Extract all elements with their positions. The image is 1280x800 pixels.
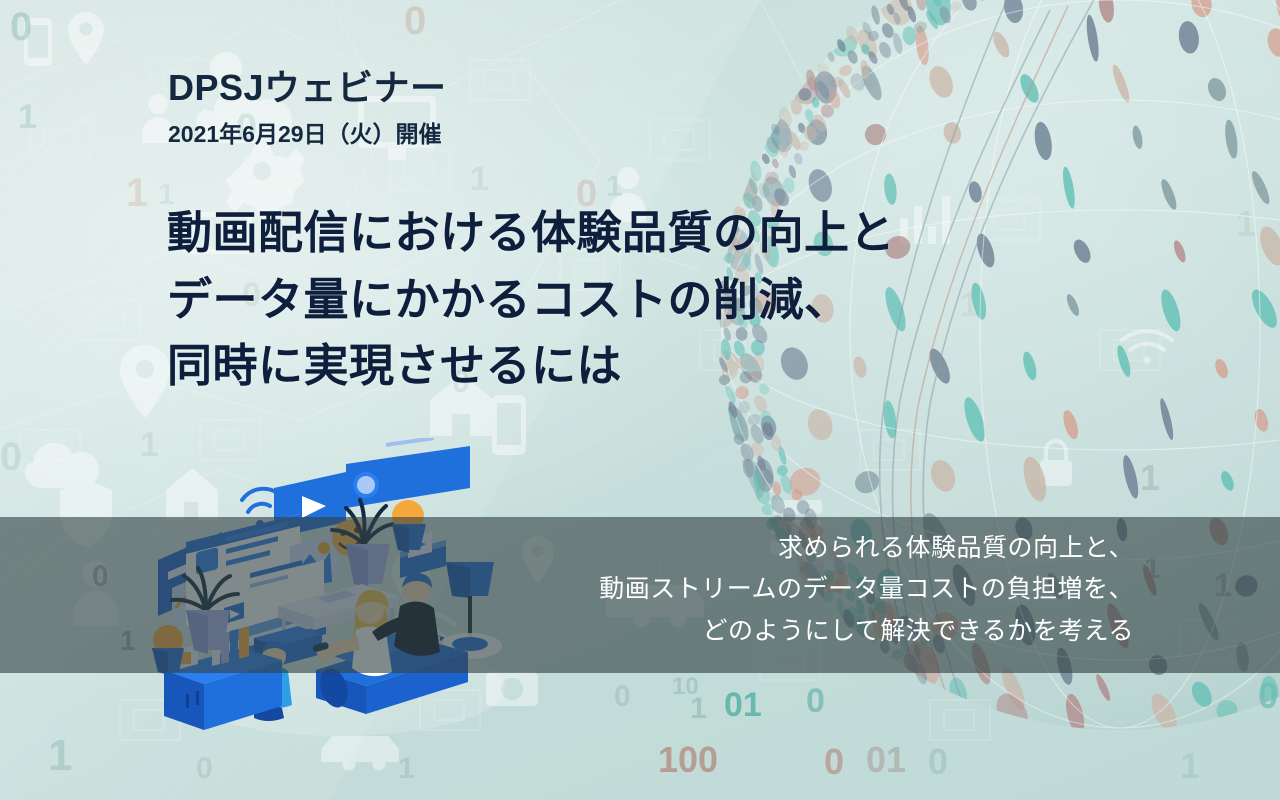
subtitle-line-3: どのようにして解決できるかを考える (374, 611, 1134, 652)
svg-text:0: 0 (928, 741, 948, 782)
svg-text:1: 1 (18, 98, 37, 136)
banner-canvas: 0 0 0 1 1 1 0 1 0 1 0 1 0 0 1 0 0 0 1 0 … (0, 0, 1280, 800)
svg-text:1: 1 (398, 752, 415, 785)
svg-text:0: 0 (824, 741, 844, 782)
page-title: 動画配信における体験品質の向上と データ量にかかるコストの削減、 同時に実現させ… (167, 200, 1067, 400)
svg-text:0: 0 (0, 435, 22, 479)
svg-text:1: 1 (1140, 457, 1160, 498)
svg-text:01: 01 (724, 686, 762, 724)
smartphone-icon (24, 18, 52, 66)
svg-text:01: 01 (866, 739, 906, 780)
car-icon (321, 736, 399, 771)
svg-text:0: 0 (614, 680, 631, 713)
svg-text:1: 1 (470, 160, 489, 198)
svg-text:0: 0 (404, 0, 426, 43)
svg-text:1: 1 (1180, 745, 1200, 786)
cloud-icon (25, 443, 99, 488)
subtitle-line-2: 動画ストリームのデータ量コストの負担増を、 (374, 569, 1134, 610)
webinar-kicker-title: DPSJウェビナー (168, 68, 988, 108)
svg-text:1: 1 (126, 171, 148, 215)
svg-text:1: 1 (606, 170, 623, 203)
subtitle-line-1: 求められる体験品質の向上と、 (374, 528, 1134, 569)
headline-line-1: 動画配信における体験品質の向上と (167, 200, 1067, 267)
svg-text:0: 0 (10, 5, 32, 49)
header-block: DPSJウェビナー 2021年6月29日（火）開催 (168, 68, 988, 147)
subtitle-block: 求められる体験品質の向上と、 動画ストリームのデータ量コストの負担増を、 どのよ… (374, 528, 1134, 652)
headline-line-2: データ量にかかるコストの削減、 (167, 267, 1067, 334)
headline-line-3: 同時に実現させるには (167, 333, 1067, 400)
map-pin-icon (68, 12, 104, 65)
svg-text:1: 1 (48, 731, 72, 780)
svg-text:0: 0 (1258, 675, 1278, 716)
map-pin-icon (120, 345, 170, 418)
svg-text:0: 0 (806, 682, 825, 720)
event-date: 2021年6月29日（火）開催 (168, 122, 988, 147)
lock-icon (1040, 441, 1072, 486)
svg-text:10: 10 (672, 673, 699, 700)
svg-text:0: 0 (196, 752, 213, 785)
svg-text:1: 1 (1236, 203, 1256, 244)
floating-chat-card (346, 438, 470, 508)
svg-text:100: 100 (658, 739, 718, 780)
wifi-icon (1122, 331, 1172, 363)
svg-text:1: 1 (690, 692, 707, 725)
